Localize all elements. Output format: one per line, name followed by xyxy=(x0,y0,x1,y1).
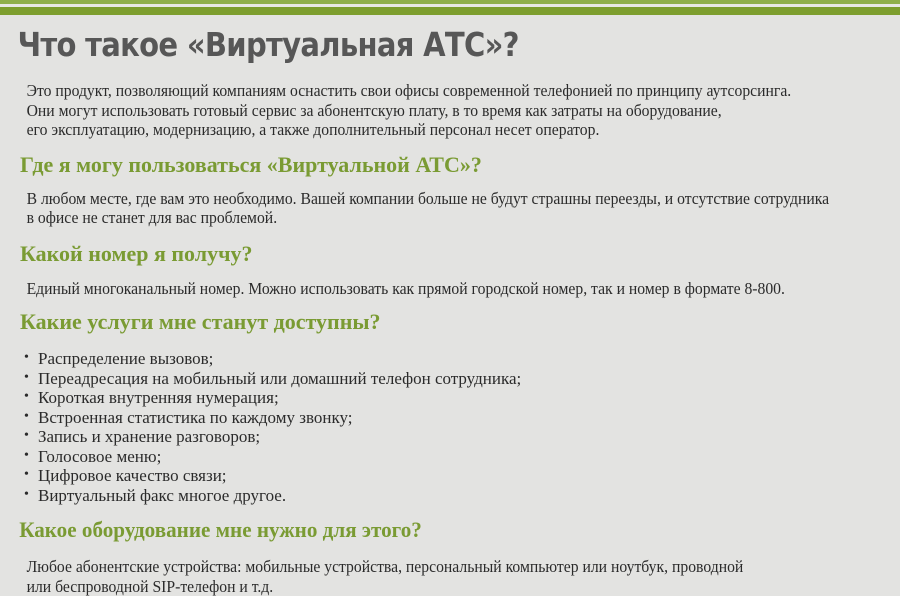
slide-content: Что такое «Виртуальная АТС»? Это продукт… xyxy=(0,15,900,596)
section-paragraph-what-number: Единый многоканальный номер. Можно испол… xyxy=(0,279,855,299)
section-heading-what-services: Какие услуги мне станут доступны? xyxy=(0,309,900,335)
paragraph-line: Единый многоканальный номер. Можно испол… xyxy=(27,279,846,299)
section-heading-what-number: Какой номер я получу? xyxy=(0,241,900,267)
list-item: Голосовое меню; xyxy=(24,447,900,467)
paragraph-line: в офисе не станет для вас проблемой. xyxy=(27,208,846,228)
page-title: Что такое «Виртуальная АТС»? xyxy=(0,15,792,65)
services-bullet-list: Распределение вызовов; Переадресация на … xyxy=(0,349,900,505)
paragraph-line: его эксплуатацию, модернизацию, а также … xyxy=(27,120,846,140)
section-paragraph-what-equipment: Любое абонентские устройства: мобильные … xyxy=(0,557,855,596)
paragraph-line: Это продукт, позволяющий компаниям оснас… xyxy=(27,81,846,101)
slide-page: Что такое «Виртуальная АТС»? Это продукт… xyxy=(0,0,900,588)
top-accent-bar-thick xyxy=(0,7,900,15)
section-paragraph-where-can-i-use: В любом месте, где вам это необходимо. В… xyxy=(0,189,855,228)
list-item: Встроенная статистика по каждому звонку; xyxy=(24,408,900,428)
paragraph-line: Они могут использовать готовый сервис за… xyxy=(27,101,846,121)
list-item: Цифровое качество связи; xyxy=(24,466,900,486)
paragraph-line: В любом месте, где вам это необходимо. В… xyxy=(27,189,846,209)
intro-paragraph: Это продукт, позволяющий компаниям оснас… xyxy=(0,81,855,140)
section-heading-what-equipment: Какое оборудование мне нужно для этого? xyxy=(0,517,864,543)
paragraph-line: или беспроводной SIP-телефон и т.д. xyxy=(27,577,846,596)
list-item: Запись и хранение разговоров; xyxy=(24,427,900,447)
section-heading-where-can-i-use: Где я могу пользоваться «Виртуальной АТС… xyxy=(0,152,900,178)
list-item: Короткая внутренняя нумерация; xyxy=(24,388,900,408)
list-item: Переадресация на мобильный или домашний … xyxy=(24,369,900,389)
list-item: Виртуальный факс многое другое. xyxy=(24,486,900,506)
list-item: Распределение вызовов; xyxy=(24,349,900,369)
paragraph-line: Любое абонентские устройства: мобильные … xyxy=(27,557,846,577)
